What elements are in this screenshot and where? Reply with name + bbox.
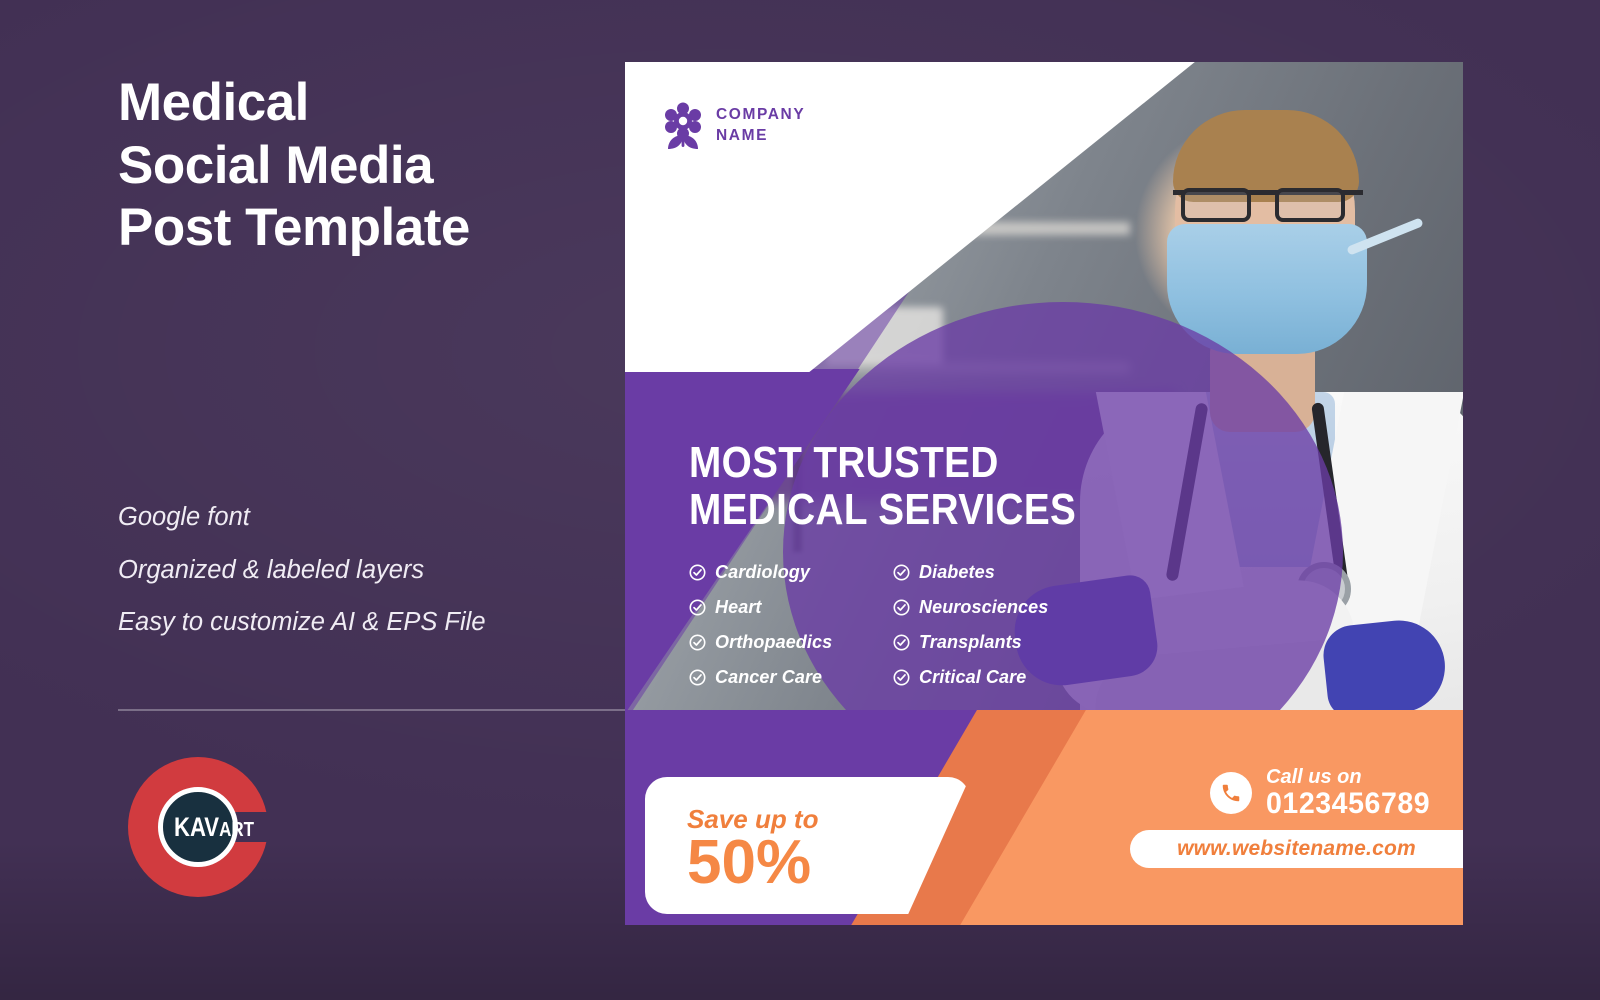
post-headline-line-2: MEDICAL SERVICES — [689, 487, 1076, 534]
website-pill[interactable]: www.websitename.com — [1130, 830, 1463, 868]
glasses-lens-right — [1275, 188, 1345, 222]
phone-number: 0123456789 — [1266, 788, 1430, 820]
service-item-orthopaedics[interactable]: Orthopaedics — [689, 632, 885, 653]
company-name-line-2: NAME — [716, 127, 768, 144]
section-divider — [118, 709, 626, 711]
service-item-transplants[interactable]: Transplants — [893, 632, 1089, 653]
company-name: COMPANYNAME — [716, 105, 805, 147]
phone-icon — [1210, 772, 1252, 814]
feature-item-layers: Organized & labeled layers — [118, 558, 588, 584]
service-label: Heart — [715, 597, 762, 618]
feature-item-google-font: Google font — [118, 505, 588, 531]
check-circle-icon — [893, 599, 910, 616]
logo-art-text: ART — [219, 819, 254, 842]
service-label: Critical Care — [919, 667, 1026, 688]
service-item-cancer-care[interactable]: Cancer Care — [689, 667, 885, 688]
post-headline-line-1: MOST TRUSTED — [689, 440, 1076, 487]
website-url: www.websitename.com — [1177, 837, 1416, 861]
call-label: Call us on — [1266, 766, 1362, 788]
post-headline: MOST TRUSTED MEDICAL SERVICES — [689, 440, 1076, 533]
service-label: Diabetes — [919, 562, 995, 583]
check-circle-icon — [689, 599, 706, 616]
page-title-line-3: Post Template — [118, 197, 588, 260]
glasses-lens-left — [1181, 188, 1251, 222]
check-circle-icon — [893, 564, 910, 581]
logo-kav-text: KAV — [174, 812, 219, 843]
service-label: Cardiology — [715, 562, 810, 583]
contact-call-block[interactable]: Call us on 0123456789 — [1210, 767, 1439, 820]
feature-item-file-formats: Easy to customize AI & EPS File — [118, 610, 588, 636]
feature-list: Google font Organized & labeled layers E… — [118, 505, 588, 663]
promo-value: 50% — [687, 829, 811, 897]
contact-text: Call us on 0123456789 — [1266, 767, 1439, 820]
check-circle-icon — [893, 634, 910, 651]
service-label: Transplants — [919, 632, 1022, 653]
service-item-heart[interactable]: Heart — [689, 597, 885, 618]
company-name-line-1: COMPANY — [716, 106, 805, 123]
kav-art-logo: KAV ART — [128, 757, 268, 897]
service-item-neurosciences[interactable]: Neurosciences — [893, 597, 1089, 618]
service-item-cardiology[interactable]: Cardiology — [689, 562, 885, 583]
page-title-line-1: Medical — [118, 72, 588, 135]
service-label: Neurosciences — [919, 597, 1048, 618]
flower-icon — [663, 102, 703, 150]
service-item-diabetes[interactable]: Diabetes — [893, 562, 1089, 583]
company-logo-lockup: COMPANYNAME — [663, 102, 805, 150]
social-post-card: COMPANYNAME MOST TRUSTED MEDICAL SERVICE… — [625, 62, 1463, 925]
service-item-critical-care[interactable]: Critical Care — [893, 667, 1089, 688]
check-circle-icon — [689, 669, 706, 686]
check-circle-icon — [689, 634, 706, 651]
services-list: Cardiology Diabetes Heart Neurosciences … — [689, 562, 1109, 688]
service-label: Cancer Care — [715, 667, 822, 688]
left-info-panel: Medical Social Media Post Template Googl… — [0, 0, 625, 1000]
page-title: Medical Social Media Post Template — [118, 72, 588, 260]
check-circle-icon — [689, 564, 706, 581]
service-label: Orthopaedics — [715, 632, 832, 653]
page-title-line-2: Social Media — [118, 135, 588, 198]
check-circle-icon — [893, 669, 910, 686]
